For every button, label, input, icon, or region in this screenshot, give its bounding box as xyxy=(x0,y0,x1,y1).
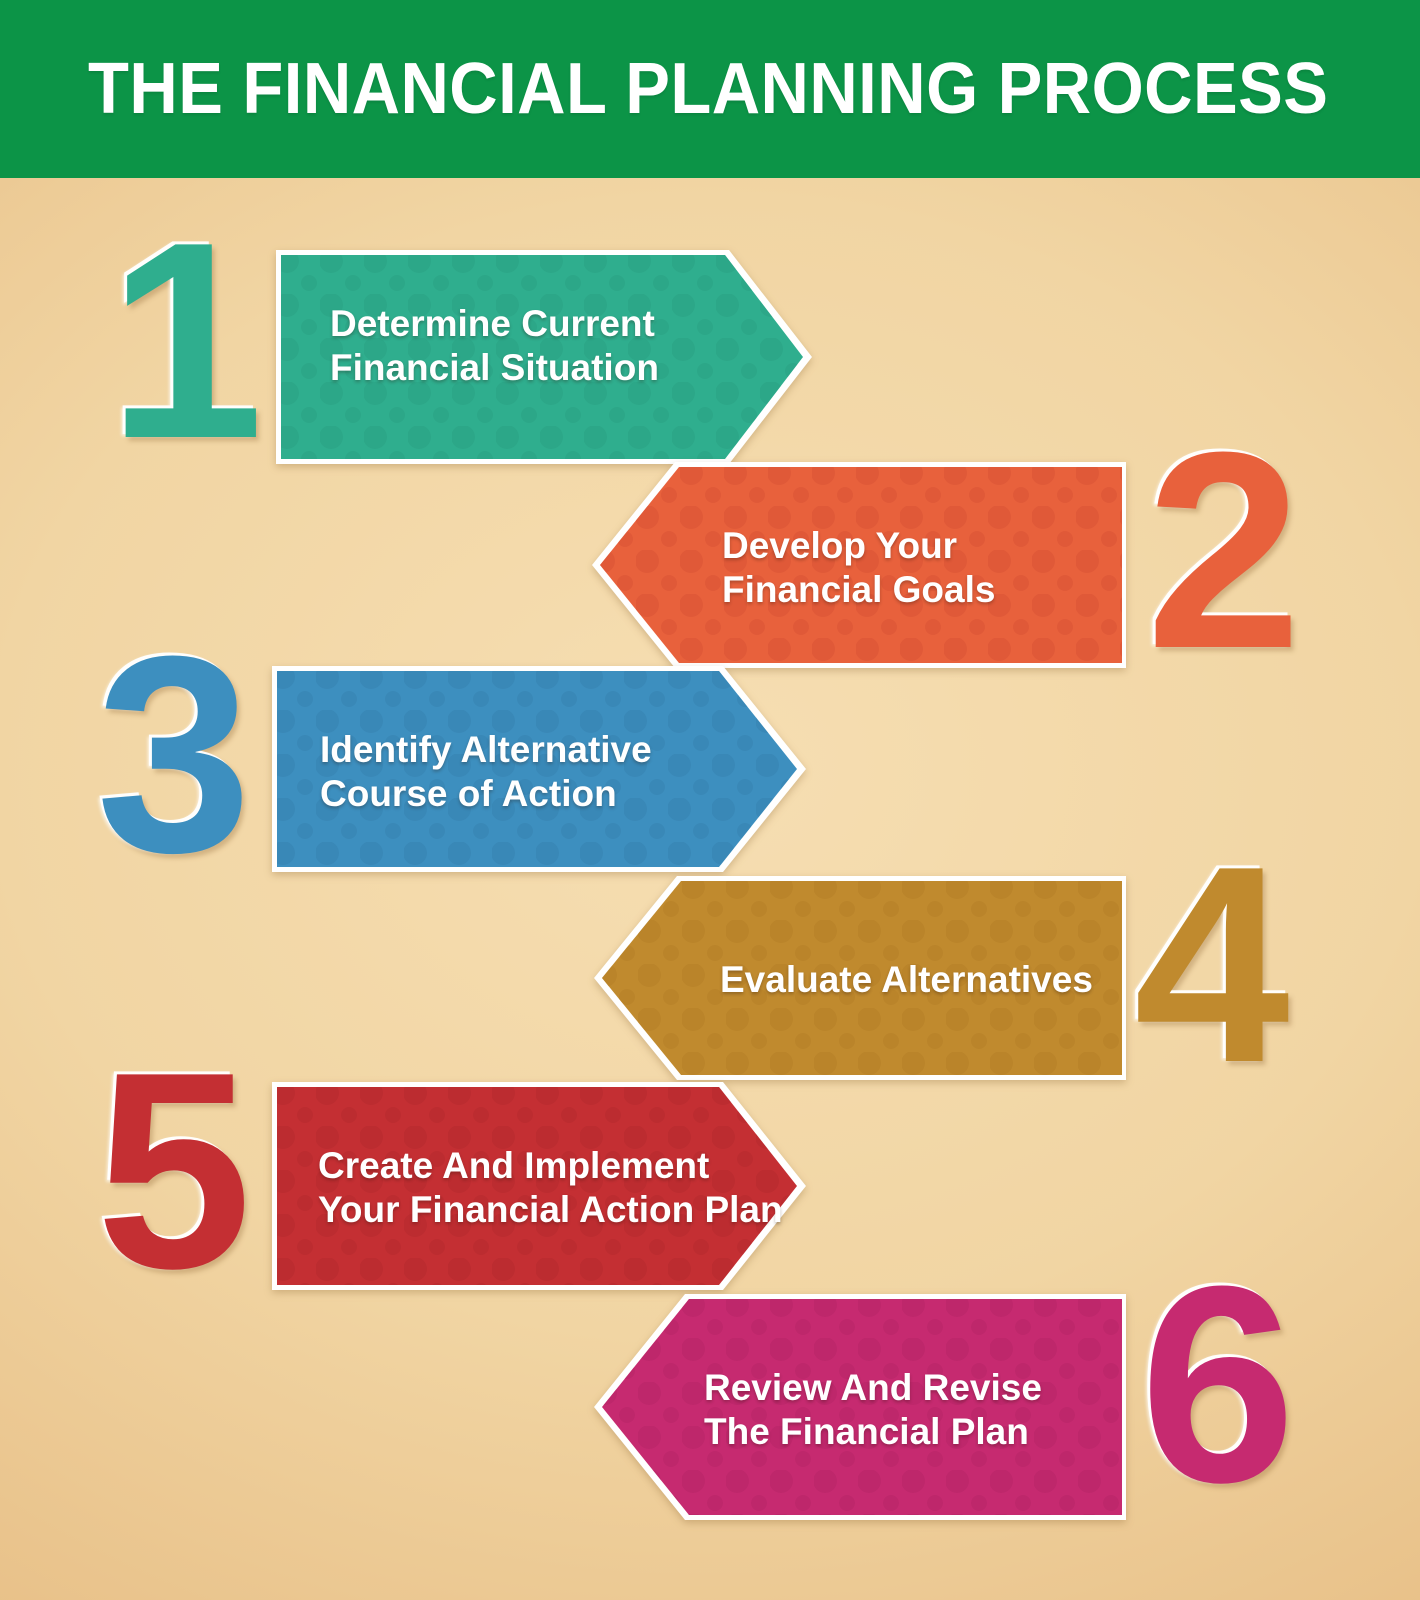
step-4-label: Evaluate Alternatives xyxy=(720,958,1093,1002)
step-4: Evaluate Alternatives xyxy=(594,876,1126,1080)
step-3: Identify Alternative Course of Action xyxy=(272,666,806,872)
step-6: Review And Revise The Financial Plan xyxy=(594,1294,1126,1520)
infographic-canvas: THE FINANCIAL PLANNING PROCESS Determine… xyxy=(0,0,1420,1600)
step-1: Determine Current Financial Situation xyxy=(276,250,812,464)
step-2-label: Develop Your Financial Goals xyxy=(722,524,995,611)
step-6-number: 6 xyxy=(1140,1282,1292,1489)
step-3-label: Identify Alternative Course of Action xyxy=(320,728,652,815)
step-6-label: Review And Revise The Financial Plan xyxy=(704,1366,1042,1453)
step-2: Develop Your Financial Goals xyxy=(592,462,1126,668)
step-1-number: 1 xyxy=(108,238,260,445)
step-5: Create And Implement Your Financial Acti… xyxy=(272,1082,806,1290)
header-banner: THE FINANCIAL PLANNING PROCESS xyxy=(0,0,1420,178)
step-4-number: 4 xyxy=(1134,862,1286,1069)
page-title: THE FINANCIAL PLANNING PROCESS xyxy=(88,53,1328,125)
step-2-number: 2 xyxy=(1146,448,1298,655)
step-5-number: 5 xyxy=(96,1068,248,1275)
step-1-label: Determine Current Financial Situation xyxy=(330,302,659,389)
step-3-number: 3 xyxy=(96,652,248,859)
step-5-label: Create And Implement Your Financial Acti… xyxy=(318,1144,783,1231)
